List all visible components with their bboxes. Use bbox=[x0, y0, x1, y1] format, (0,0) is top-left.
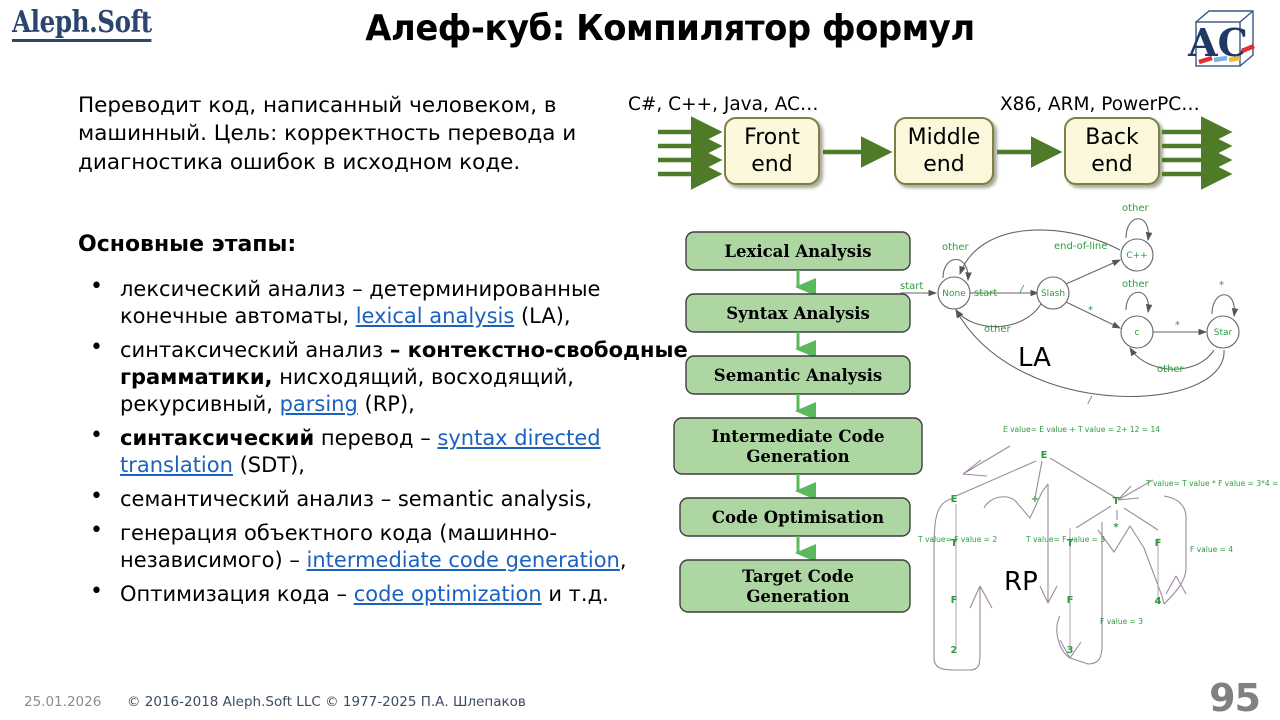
svg-text:*: * bbox=[1088, 305, 1093, 316]
svg-text:E: E bbox=[951, 494, 958, 505]
svg-text:c: c bbox=[1135, 328, 1140, 338]
stages-heading: Основные этапы: bbox=[78, 232, 296, 257]
svg-text:Slash: Slash bbox=[1041, 289, 1065, 299]
svg-text:other: other bbox=[1122, 203, 1150, 214]
svg-text:T value= F value = 3: T value= F value = 3 bbox=[1025, 535, 1105, 544]
pipeline-box-front-end-line1: Front bbox=[744, 125, 800, 150]
svg-text:E: E bbox=[1041, 450, 1048, 461]
stage-link[interactable]: code optimization bbox=[354, 582, 542, 606]
stage-text: Оптимизация кода – bbox=[120, 582, 354, 606]
flowchart-box-label: Semantic Analysis bbox=[714, 366, 882, 385]
svg-text:None: None bbox=[942, 289, 966, 299]
svg-text:T value= F value = 2: T value= F value = 2 bbox=[917, 535, 997, 544]
svg-text:T value= T value * F value = 3: T value= T value * F value = 3*4 = 12 bbox=[1145, 479, 1280, 488]
stage-text: , bbox=[620, 548, 627, 572]
compiler-phases-flowchart: Lexical AnalysisSyntax AnalysisSemantic … bbox=[668, 232, 928, 677]
flowchart-box-label: Generation bbox=[746, 447, 849, 466]
svg-text:F: F bbox=[1067, 595, 1074, 606]
recursive-parsing-tree-diagram: E E + T T T F F F * 2 3 4 E value= E val… bbox=[918, 418, 1280, 680]
svg-text:start: start bbox=[974, 288, 997, 299]
svg-text:Star: Star bbox=[1214, 328, 1233, 338]
stage-text: перевод – bbox=[314, 426, 437, 450]
pipeline-box-middle-end-line1: Middle bbox=[908, 125, 981, 150]
page-title: Алеф-куб: Компилятор формул bbox=[228, 8, 1112, 49]
footer-copyright: © 2016-2018 Aleph.Soft LLC © 1977-2025 П… bbox=[127, 694, 526, 710]
stage-text: семантический анализ – semantic analysis… bbox=[120, 487, 592, 511]
stage-text-strong: синтаксический bbox=[120, 426, 314, 450]
svg-text:*: * bbox=[1219, 280, 1224, 291]
pipeline-box-back-end-line2: end bbox=[1091, 152, 1132, 177]
pipeline-box-front-end-line2: end bbox=[751, 152, 792, 177]
flowchart-box-label: Code Optimisation bbox=[712, 508, 884, 527]
svg-text:/: / bbox=[1087, 395, 1093, 406]
stage-text: (LA), bbox=[514, 304, 570, 328]
svg-text:C++: C++ bbox=[1126, 251, 1147, 261]
svg-text:F value = 3: F value = 3 bbox=[1100, 617, 1143, 626]
rp-annotations: E value= E value + T value = 2+ 12 = 14 … bbox=[917, 425, 1280, 626]
stage-text: (SDT), bbox=[233, 453, 305, 477]
flowchart-box-label: Intermediate Code bbox=[711, 427, 884, 446]
svg-text:other: other bbox=[942, 242, 970, 253]
pipeline-box-back-end-line1: Back bbox=[1085, 125, 1139, 150]
stage-list-item: синтаксический анализ – контекстно-свобо… bbox=[78, 337, 693, 418]
svg-text:*: * bbox=[1113, 522, 1119, 533]
svg-text:F value = 4: F value = 4 bbox=[1190, 545, 1233, 554]
svg-text:start: start bbox=[900, 281, 923, 292]
flowchart-box-label: Syntax Analysis bbox=[726, 304, 870, 323]
footer-date: 25.01.2026 bbox=[24, 694, 101, 710]
flowchart-box-label: Generation bbox=[746, 587, 849, 606]
stage-link[interactable]: intermediate code generation bbox=[307, 548, 620, 572]
svg-text:2: 2 bbox=[951, 645, 958, 656]
svg-text:3: 3 bbox=[1067, 645, 1074, 656]
rp-caption: RP bbox=[1004, 567, 1038, 597]
stage-link[interactable]: parsing bbox=[280, 392, 358, 416]
aleph-cube-logo-icon: AC bbox=[1178, 6, 1264, 78]
stage-list-item: синтаксический перевод – syntax directed… bbox=[78, 425, 693, 479]
stage-text: (RP), bbox=[358, 392, 415, 416]
stage-list-item: семантический анализ – semantic analysis… bbox=[78, 486, 693, 513]
page-number: 95 bbox=[1209, 676, 1260, 720]
lexical-analysis-state-diagram: None Slash C++ c Star start start other … bbox=[898, 198, 1280, 420]
svg-text:E value= E value + T value = 2: E value= E value + T value = 2+ 12 = 14 bbox=[1003, 425, 1160, 434]
aleph-soft-logo: Aleph.Soft bbox=[12, 8, 152, 42]
pipeline-input-arrows bbox=[658, 132, 718, 174]
stage-list-item: Оптимизация кода – code optimization и т… bbox=[78, 581, 693, 608]
svg-text:F: F bbox=[951, 595, 958, 606]
la-caption: LA bbox=[1018, 343, 1051, 373]
svg-text:other: other bbox=[1122, 279, 1150, 290]
stage-text: и т.д. bbox=[542, 582, 609, 606]
pipeline-input-caption: C#, C++, Java, AC… bbox=[628, 94, 818, 115]
stage-list-item: генерация объектного кода (машинно-незав… bbox=[78, 520, 693, 574]
stages-list: лексический анализ – детерминированные к… bbox=[78, 276, 693, 615]
stage-list-item: лексический анализ – детерминированные к… bbox=[78, 276, 693, 330]
svg-text:other: other bbox=[984, 324, 1012, 335]
svg-text:other: other bbox=[1157, 364, 1185, 375]
stage-text: синтаксический анализ bbox=[120, 338, 390, 362]
stage-link[interactable]: lexical analysis bbox=[356, 304, 515, 328]
svg-text:end-of-line: end-of-line bbox=[1054, 241, 1107, 252]
intro-paragraph: Переводит код, написанный человеком, в м… bbox=[78, 92, 618, 177]
flowchart-box-label: Lexical Analysis bbox=[724, 242, 871, 261]
svg-text:T: T bbox=[1113, 496, 1120, 507]
pipeline-output-caption: X86, ARM, PowerPC… bbox=[1000, 94, 1200, 115]
pipeline-box-middle-end-line2: end bbox=[923, 152, 964, 177]
svg-text:*: * bbox=[1175, 320, 1180, 331]
slide: Aleph.Soft Алеф-куб: Компилятор формул A… bbox=[0, 0, 1280, 720]
flowchart-box-label: Target Code bbox=[742, 567, 854, 586]
svg-text:4: 4 bbox=[1155, 596, 1162, 607]
pipeline-output-arrows bbox=[1162, 132, 1228, 174]
svg-text:F: F bbox=[1155, 538, 1162, 549]
svg-text:+: + bbox=[1031, 494, 1039, 505]
